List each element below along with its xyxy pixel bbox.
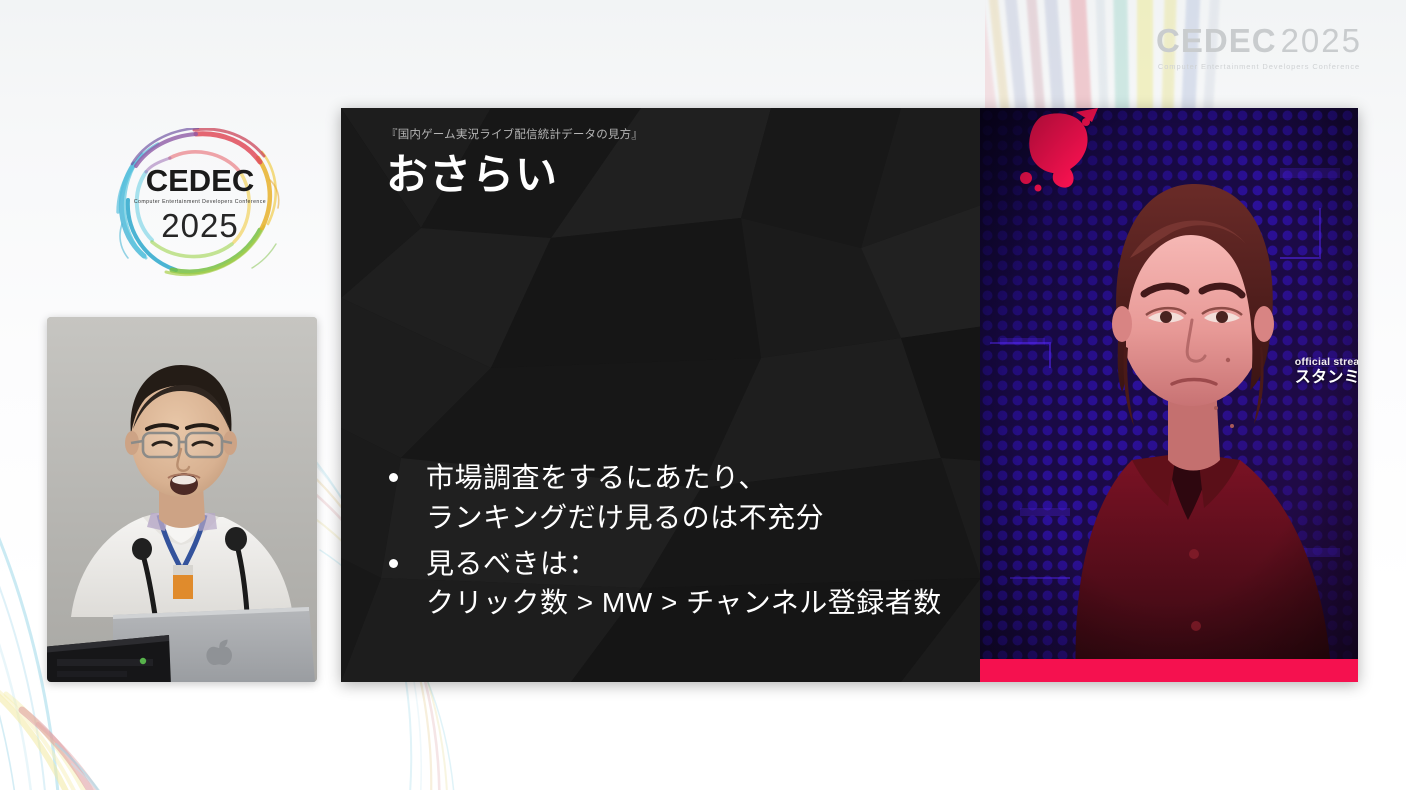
cedec-wordmark-tagline: Computer Entertainment Developers Confer… [1156, 62, 1362, 71]
streamer-caption-large: スタンミ [1295, 369, 1358, 387]
stream-frame: CEDEC2025 Computer Entertainment Develop… [0, 0, 1406, 790]
presentation-slide: 『国内ゲーム実況ライブ配信統計データの見方』 おさらい 市場調査をするにあたり、… [341, 108, 1358, 682]
streamer-caption-small: official strea [1295, 357, 1358, 369]
cedec-wordmark-name: CEDEC [1156, 22, 1277, 59]
streamer-photo-panel: official strea スタンミ [980, 108, 1358, 682]
cedec-circle-logo-text: CEDEC Computer Entertainment Developers … [112, 128, 288, 278]
cedec-wordmark-year: 2025 [1281, 22, 1362, 59]
cedec-logo-year: 2025 [161, 209, 238, 242]
speaker-camera-feed [47, 317, 317, 682]
cedec-logo-name: CEDEC [146, 165, 255, 196]
bullet-line: クリック数 > MW > チャンネル登録者数 [426, 587, 942, 618]
cedec-wordmark: CEDEC2025 Computer Entertainment Develop… [1156, 24, 1362, 71]
bullet-line: 市場調査をするにあたり、 [426, 462, 767, 493]
bullet-dot-icon [389, 473, 398, 482]
cedec-wordmark-main: CEDEC2025 [1156, 24, 1362, 57]
list-item: 見るべきは： クリック数 > MW > チャンネル登録者数 [389, 544, 989, 624]
bullet-dot-icon [389, 559, 398, 568]
cedec-logo-tagline: Computer Entertainment Developers Confer… [134, 199, 266, 205]
list-item: 市場調査をするにあたり、 ランキングだけ見るのは不充分 [389, 458, 989, 538]
photo-accent-bar [980, 659, 1358, 682]
slide-title: おさらい [386, 152, 558, 198]
streamer-caption: official strea スタンミ [1295, 357, 1358, 387]
bullet-line: 見るべきは： [426, 548, 597, 579]
slide-kicker: 『国内ゲーム実況ライブ配信統計データの見方』 [386, 126, 643, 142]
bullet-text: 見るべきは： クリック数 > MW > チャンネル登録者数 [426, 544, 942, 624]
slide-bullet-list: 市場調査をするにあたり、 ランキングだけ見るのは不充分 見るべきは： クリック数… [389, 458, 989, 629]
bullet-line: ランキングだけ見るのは不充分 [426, 502, 824, 533]
bullet-text: 市場調査をするにあたり、 ランキングだけ見るのは不充分 [426, 458, 824, 538]
